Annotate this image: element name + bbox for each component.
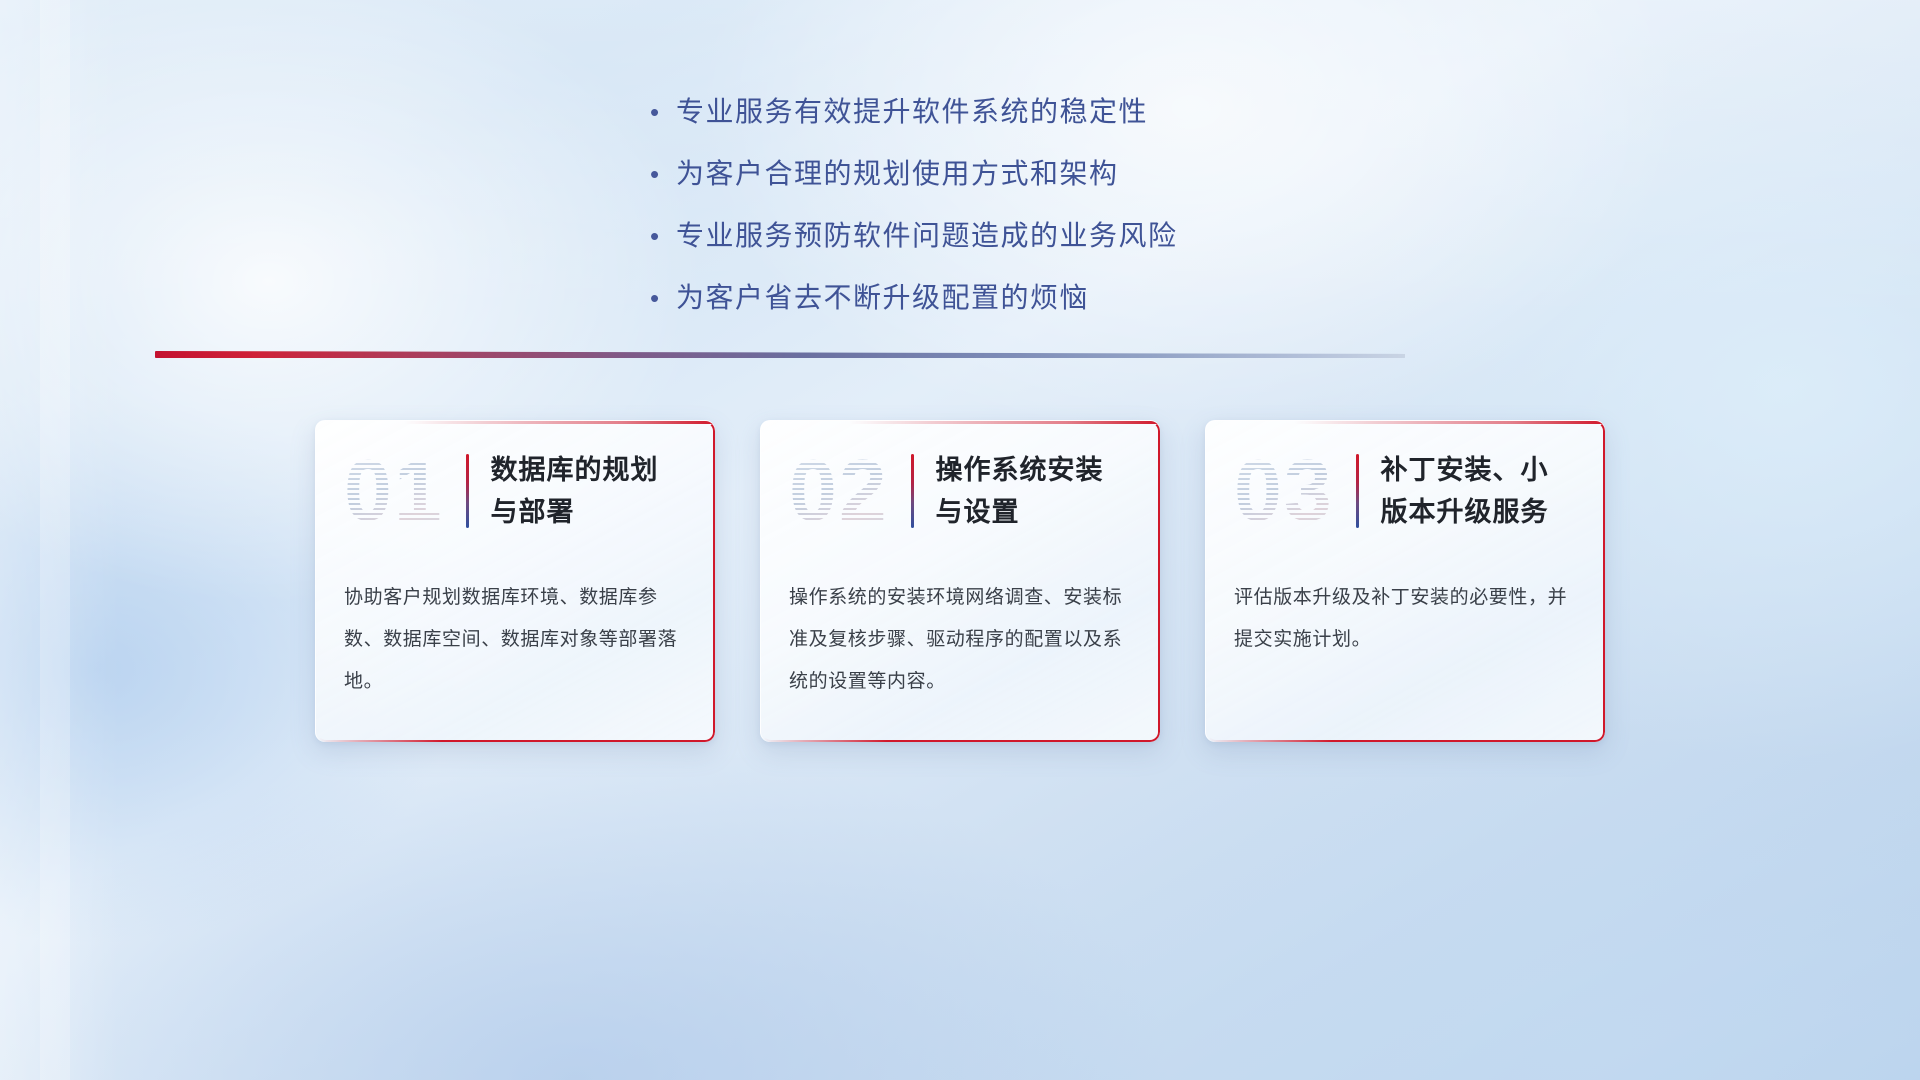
service-card-03[interactable]: 03 补丁安装、小 版本升级服务 评估版本升级及补丁安装的必要性，并提交实施计划… <box>1205 420 1605 742</box>
card-divider-bar-icon <box>466 454 469 528</box>
card-title: 补丁安装、小 版本升级服务 <box>1381 449 1549 533</box>
bullet-dot-icon: • <box>650 99 676 125</box>
slide-canvas: • 专业服务有效提升软件系统的稳定性 • 为客户合理的规划使用方式和架构 • 专… <box>0 0 1920 1080</box>
bullet-dot-icon: • <box>650 223 676 249</box>
card-header: 02 操作系统安装 与设置 <box>761 421 1160 561</box>
card-body-text: 操作系统的安装环境网络调查、安装标准及复核步骤、驱动程序的配置以及系统的设置等内… <box>761 561 1160 703</box>
divider-gradient-bar <box>155 351 1405 358</box>
card-body-text: 评估版本升级及补丁安装的必要性，并提交实施计划。 <box>1206 561 1605 661</box>
bullet-text: 为客户省去不断升级配置的烦恼 <box>676 272 1089 324</box>
card-title: 操作系统安装 与设置 <box>936 449 1104 533</box>
section-divider <box>155 345 1405 365</box>
service-card-02[interactable]: 02 操作系统安装 与设置 操作系统的安装环境网络调查、安装标准及复核步骤、驱动… <box>760 420 1160 742</box>
card-body-text: 协助客户规划数据库环境、数据库参数、数据库空间、数据库对象等部署落地。 <box>316 561 715 703</box>
benefits-bullet-list: • 专业服务有效提升软件系统的稳定性 • 为客户合理的规划使用方式和架构 • 专… <box>0 86 1920 324</box>
card-divider-bar-icon <box>1356 454 1359 528</box>
bullet-dot-icon: • <box>650 161 676 187</box>
card-number-watermark: 02 <box>789 443 907 539</box>
card-title: 数据库的规划 与部署 <box>491 449 659 533</box>
card-header: 01 数据库的规划 与部署 <box>316 421 715 561</box>
list-item: • 为客户合理的规划使用方式和架构 <box>650 148 1270 200</box>
card-number-watermark: 03 <box>1234 443 1352 539</box>
list-item: • 专业服务预防软件问题造成的业务风险 <box>650 210 1270 262</box>
service-card-group: 01 数据库的规划 与部署 协助客户规划数据库环境、数据库参数、数据库空间、数据… <box>0 420 1920 742</box>
bullet-dot-icon: • <box>650 285 676 311</box>
list-item: • 专业服务有效提升软件系统的稳定性 <box>650 86 1270 138</box>
card-number-watermark: 01 <box>344 443 462 539</box>
list-item: • 为客户省去不断升级配置的烦恼 <box>650 272 1270 324</box>
bullet-text: 为客户合理的规划使用方式和架构 <box>676 148 1119 200</box>
card-header: 03 补丁安装、小 版本升级服务 <box>1206 421 1605 561</box>
bullet-text: 专业服务预防软件问题造成的业务风险 <box>676 210 1178 262</box>
card-divider-bar-icon <box>911 454 914 528</box>
bullet-text: 专业服务有效提升软件系统的稳定性 <box>676 86 1148 138</box>
service-card-01[interactable]: 01 数据库的规划 与部署 协助客户规划数据库环境、数据库参数、数据库空间、数据… <box>315 420 715 742</box>
